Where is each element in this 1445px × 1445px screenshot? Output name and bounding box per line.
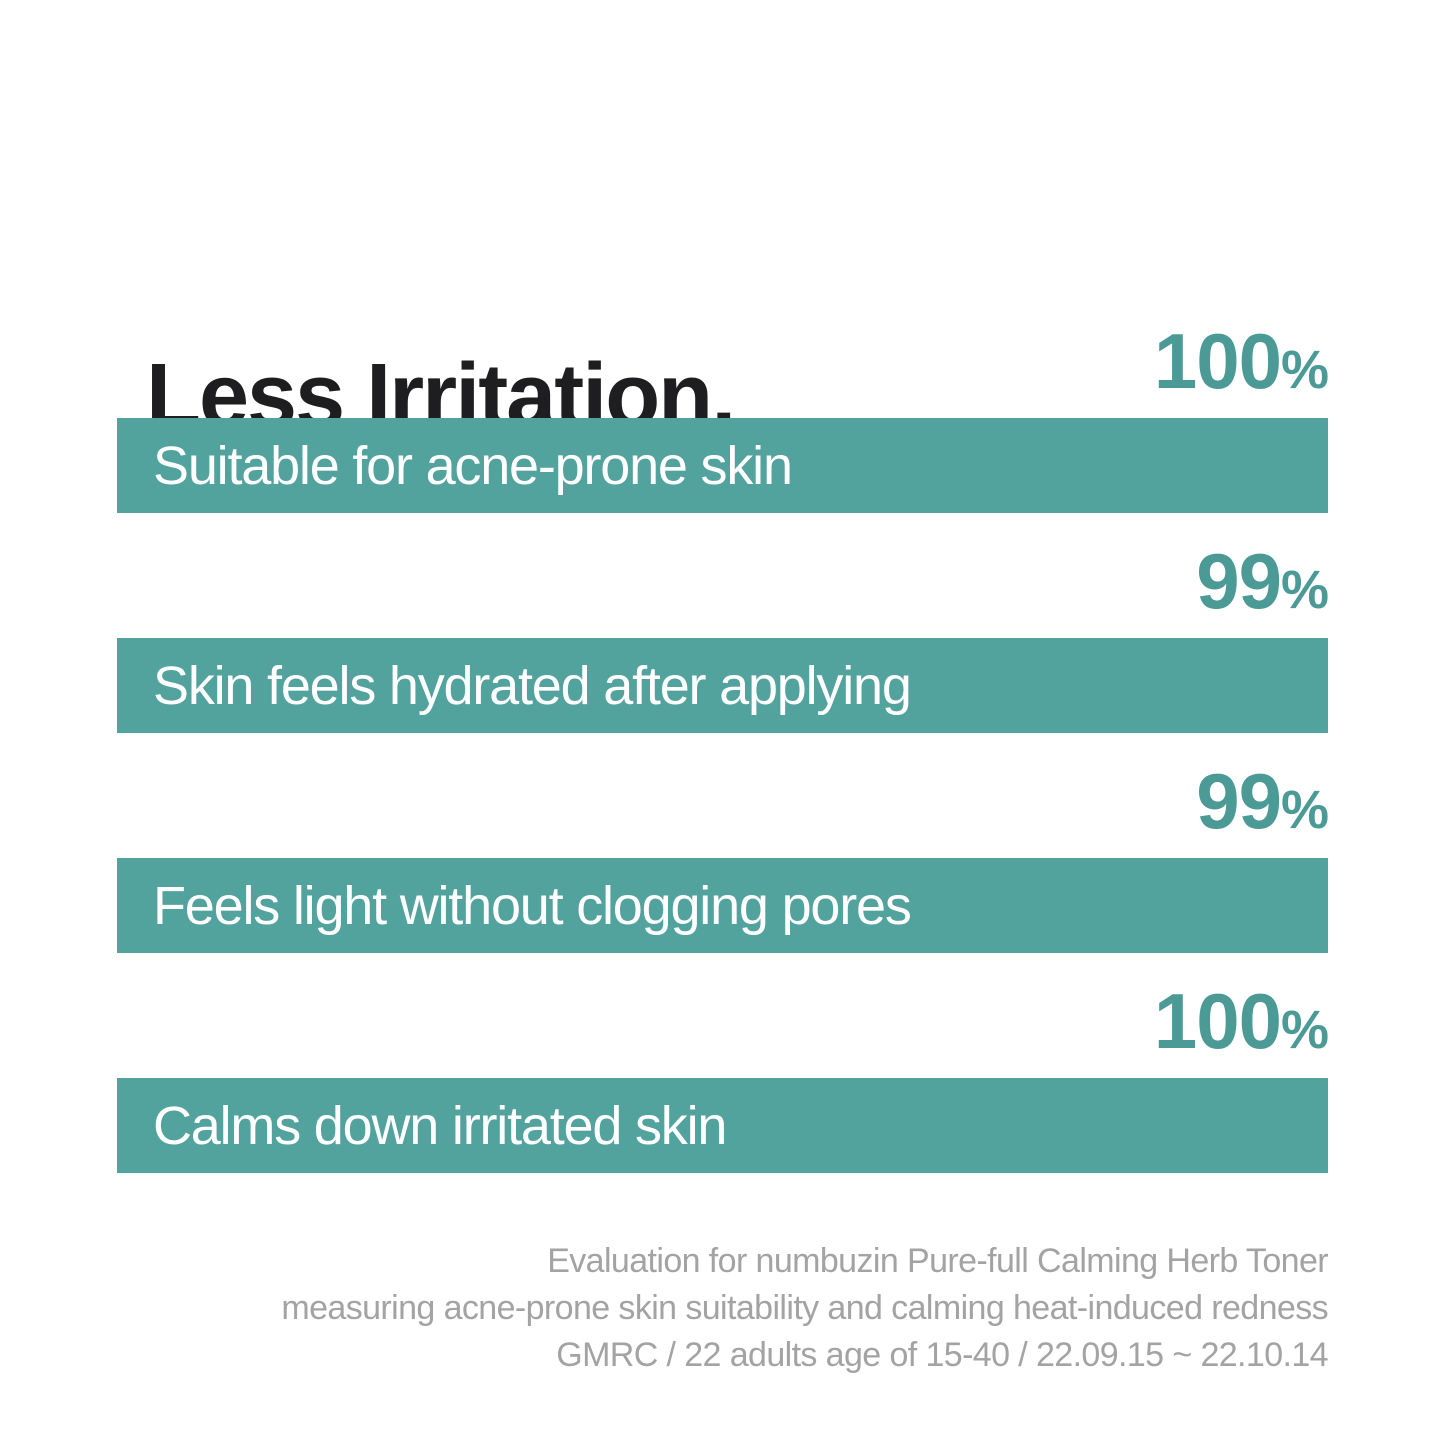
bar-chart: 100% Suitable for acne-prone skin 99% Sk… (117, 322, 1328, 1173)
percent-value-2: 99% (117, 542, 1328, 620)
infographic-poster: Less Irritation, Better Results 100% Sui… (0, 0, 1445, 1445)
percent-number-3: 99 (1196, 757, 1281, 845)
bar-group-4: 100% Calms down irritated skin (117, 982, 1328, 1173)
footnote-line-2: measuring acne-prone skin suitability an… (0, 1285, 1328, 1332)
bar-group-2: 99% Skin feels hydrated after applying (117, 542, 1328, 733)
bar-group-3: 99% Feels light without clogging pores (117, 762, 1328, 953)
bar-label-4: Calms down irritated skin (153, 1099, 726, 1153)
percent-value-4: 100% (117, 982, 1328, 1060)
bar-label-1: Suitable for acne-prone skin (153, 439, 792, 493)
percent-number-4: 100 (1154, 977, 1281, 1065)
percent-symbol-1: % (1281, 340, 1328, 400)
percent-symbol-3: % (1281, 780, 1328, 840)
bar-label-2: Skin feels hydrated after applying (153, 659, 911, 713)
percent-number-2: 99 (1196, 537, 1281, 625)
bar-group-1: 100% Suitable for acne-prone skin (117, 322, 1328, 513)
percent-symbol-4: % (1281, 1000, 1328, 1060)
bar-2: Skin feels hydrated after applying (117, 638, 1328, 733)
percent-value-3: 99% (117, 762, 1328, 840)
footnote-line-3: GMRC / 22 adults age of 15-40 / 22.09.15… (0, 1332, 1328, 1379)
footnote: Evaluation for numbuzin Pure-full Calmin… (0, 1238, 1328, 1379)
footnote-line-1: Evaluation for numbuzin Pure-full Calmin… (0, 1238, 1328, 1285)
bar-1: Suitable for acne-prone skin (117, 418, 1328, 513)
percent-symbol-2: % (1281, 560, 1328, 620)
bar-3: Feels light without clogging pores (117, 858, 1328, 953)
percent-number-1: 100 (1154, 317, 1281, 405)
bar-4: Calms down irritated skin (117, 1078, 1328, 1173)
bar-label-3: Feels light without clogging pores (153, 879, 911, 933)
percent-value-1: 100% (117, 322, 1328, 400)
